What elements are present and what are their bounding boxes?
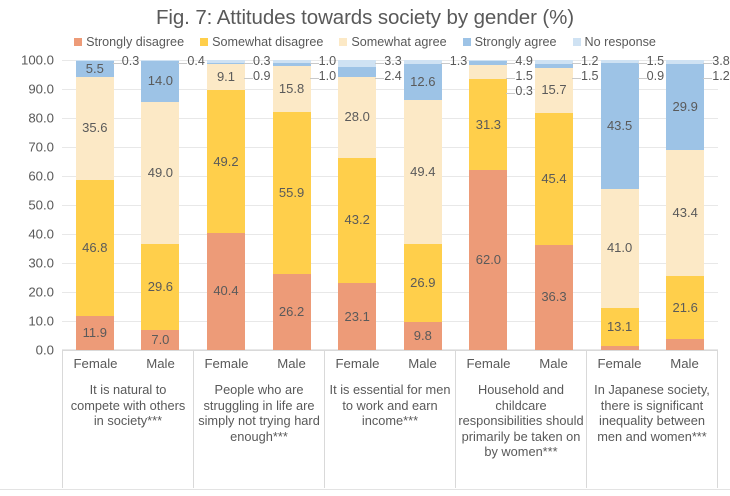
bar-segment[interactable] (273, 63, 311, 66)
bar-segment[interactable] (535, 60, 573, 64)
bar-value-label: 29.6 (141, 280, 179, 293)
bar-value-label: 5.5 (76, 62, 114, 75)
y-axis-tick-label: 50.0 (28, 198, 54, 213)
bar-segment[interactable] (207, 60, 245, 63)
bar-value-label: 43.4 (666, 206, 704, 219)
bar-value-callout: 1.5 (647, 55, 665, 68)
legend-label: Strongly agree (475, 35, 557, 49)
bar-value-label: 26.2 (273, 305, 311, 318)
legend-label: Strongly disagree (86, 35, 184, 49)
bar-value-label: 9.1 (207, 70, 245, 83)
bar-value-callout: 3.8 (712, 55, 730, 68)
y-axis-tick-label: 90.0 (28, 82, 54, 97)
bar-value-label: 35.6 (76, 121, 114, 134)
bar-value-label: 55.9 (273, 186, 311, 199)
gender-label-row: FemaleMale (63, 356, 193, 371)
bar-value-callout: 0.9 (253, 70, 271, 83)
category-label: It is essential for men to work and earn… (325, 382, 455, 429)
bar-value-label: 14.0 (141, 74, 179, 87)
bar-segment[interactable] (666, 60, 704, 63)
legend-item[interactable]: Somewhat disagree (200, 35, 323, 49)
category-cell: FemaleMalePeople who are struggling in l… (194, 351, 325, 488)
legend-swatch-icon (463, 38, 471, 46)
legend-label: Somewhat disagree (212, 35, 323, 49)
gender-label: Male (259, 356, 324, 371)
y-axis-tick-label: 80.0 (28, 111, 54, 126)
bar-value-callout: 1.2 (712, 70, 730, 83)
stacked-bar[interactable]: 40.449.29.10.30.9 (207, 60, 245, 350)
y-axis: 0.010.020.030.040.050.060.070.080.090.01… (0, 60, 58, 350)
bar-value-label: 49.4 (404, 165, 442, 178)
bar-value-label: 26.9 (404, 276, 442, 289)
chart-container: Fig. 7: Attitudes towards society by gen… (0, 0, 730, 496)
legend-item[interactable]: Strongly disagree (74, 35, 184, 49)
bar-value-label: 13.1 (601, 320, 639, 333)
bar-segment[interactable] (141, 60, 179, 61)
bar-value-label: 12.6 (404, 75, 442, 88)
bar-value-label: 62.0 (469, 253, 507, 266)
bar-segment[interactable] (469, 60, 507, 61)
y-axis-tick-label: 20.0 (28, 285, 54, 300)
category-cell: FemaleMaleHousehold and childcare respon… (456, 351, 587, 488)
bar-value-label: 9.8 (404, 329, 442, 342)
callout-leader-line (441, 63, 450, 64)
bar-segment[interactable] (273, 60, 311, 63)
bar-segment[interactable] (469, 65, 507, 79)
y-axis-tick-label: 70.0 (28, 140, 54, 155)
bar-value-label: 7.0 (141, 333, 179, 346)
bar-segment[interactable] (535, 64, 573, 67)
category-cell: FemaleMaleIt is natural to compete with … (63, 351, 194, 488)
stacked-bar[interactable]: 9.826.949.412.61.3 (404, 60, 442, 350)
gender-label: Female (587, 356, 652, 371)
gender-label: Male (128, 356, 193, 371)
stacked-bar[interactable]: 23.143.228.03.32.4 (338, 60, 376, 350)
y-axis-tick-label: 10.0 (28, 314, 54, 329)
bar-value-callout: 4.9 (515, 55, 533, 68)
category-label: Household and childcare responsibilities… (456, 382, 586, 460)
callout-leader-line (310, 63, 319, 64)
bar-group: 40.449.29.10.30.926.255.915.81.01.0 (193, 60, 324, 350)
callout-leader-line (638, 78, 647, 79)
bar-value-label: 43.5 (601, 119, 639, 132)
gender-label: Male (390, 356, 455, 371)
bar-group: 13.141.043.51.50.921.643.429.93.81.2 (587, 60, 718, 350)
category-label: It is natural to compete with others in … (63, 382, 193, 429)
gender-label: Female (194, 356, 259, 371)
legend-item[interactable]: Strongly agree (463, 35, 557, 49)
stacked-bar[interactable]: 62.031.34.91.50.3 (469, 60, 507, 350)
stacked-bar[interactable]: 36.345.415.71.21.5 (535, 60, 573, 350)
bar-value-callout: 1.5 (515, 70, 533, 83)
plot-area: 11.946.835.65.50.37.029.649.014.00.440.4… (62, 60, 718, 350)
callout-leader-line (703, 63, 712, 64)
bar-value-label: 15.8 (273, 82, 311, 95)
gender-label-row: FemaleMale (456, 356, 586, 371)
gender-label: Male (521, 356, 586, 371)
y-axis-tick-label: 60.0 (28, 169, 54, 184)
bar-value-label: 23.1 (338, 310, 376, 323)
callout-leader-line (506, 93, 515, 94)
bar-segment[interactable] (601, 60, 639, 63)
legend-swatch-icon (74, 38, 82, 46)
chart-title: Fig. 7: Attitudes towards society by gen… (0, 6, 730, 30)
bar-value-label: 29.9 (666, 100, 704, 113)
callout-leader-line (506, 78, 515, 79)
bar-value-label: 15.7 (535, 83, 573, 96)
bar-segment[interactable] (666, 339, 704, 350)
callout-leader-line (506, 63, 515, 64)
bar-group: 11.946.835.65.50.37.029.649.014.00.4 (62, 60, 193, 350)
bar-value-label: 49.2 (207, 155, 245, 168)
callout-leader-line (375, 63, 384, 64)
bar-value-label: 21.6 (666, 301, 704, 314)
callout-leader-line (375, 78, 384, 79)
category-axis: FemaleMaleIt is natural to compete with … (62, 350, 718, 488)
bar-segment[interactable] (338, 60, 376, 67)
gender-label: Male (652, 356, 717, 371)
bar-segment[interactable] (207, 63, 245, 64)
bar-segment[interactable] (338, 67, 376, 77)
bar-value-label: 45.4 (535, 172, 573, 185)
bar-segment[interactable] (469, 61, 507, 65)
callout-leader-line (572, 78, 581, 79)
legend-swatch-icon (339, 38, 347, 46)
bar-segment[interactable] (76, 60, 114, 61)
gender-label-row: FemaleMale (325, 356, 455, 371)
bar-value-label: 31.3 (469, 118, 507, 131)
callout-leader-line (703, 78, 712, 79)
bar-segment[interactable] (404, 60, 442, 64)
bar-value-callout: 0.3 (122, 55, 140, 68)
y-axis-tick-label: 100.0 (21, 53, 54, 68)
category-cell: FemaleMaleIn Japanese society, there is … (587, 351, 717, 488)
category-label: People who are struggling in life are si… (194, 382, 324, 444)
legend-item[interactable]: No response (573, 35, 656, 49)
category-cell: FemaleMaleIt is essential for men to wor… (325, 351, 456, 488)
stacked-bar[interactable]: 7.029.649.014.00.4 (141, 60, 179, 350)
gender-label: Female (63, 356, 128, 371)
legend-label: Somewhat agree (351, 35, 446, 49)
gender-label: Female (456, 356, 521, 371)
callout-leader-line (244, 63, 253, 64)
y-axis-tick-label: 40.0 (28, 227, 54, 242)
bar-value-label: 40.4 (207, 284, 245, 297)
stacked-bar[interactable]: 13.141.043.51.50.9 (601, 60, 639, 350)
chart-legend: Strongly disagreeSomewhat disagreeSomewh… (0, 35, 730, 49)
legend-swatch-icon (200, 38, 208, 46)
gender-label-row: FemaleMale (587, 356, 717, 371)
callout-leader-line (113, 63, 122, 64)
callout-leader-line (638, 63, 647, 64)
stacked-bar[interactable]: 11.946.835.65.50.3 (76, 60, 114, 350)
gender-label-row: FemaleMale (194, 356, 324, 371)
callout-leader-line (178, 63, 187, 64)
callout-leader-line (244, 78, 253, 79)
bar-value-label: 46.8 (76, 241, 114, 254)
callout-leader-line (572, 63, 581, 64)
y-axis-tick-label: 30.0 (28, 256, 54, 271)
bar-value-callout: 0.3 (253, 55, 271, 68)
bar-value-label: 41.0 (601, 241, 639, 254)
bottom-divider (0, 489, 730, 490)
callout-leader-line (310, 78, 319, 79)
bar-value-label: 43.2 (338, 213, 376, 226)
legend-item[interactable]: Somewhat agree (339, 35, 446, 49)
legend-label: No response (585, 35, 656, 49)
category-label: In Japanese society, there is significan… (587, 382, 717, 444)
stacked-bar[interactable]: 21.643.429.93.81.2 (666, 60, 704, 350)
bar-value-label: 36.3 (535, 290, 573, 303)
gender-label: Female (325, 356, 390, 371)
bars-layer: 11.946.835.65.50.37.029.649.014.00.440.4… (62, 60, 718, 350)
bar-value-callout: 3.3 (384, 55, 402, 68)
bar-value-callout: 0.3 (515, 85, 533, 98)
bar-value-label: 11.9 (76, 326, 114, 339)
bar-group: 62.031.34.91.50.336.345.415.71.21.5 (456, 60, 587, 350)
legend-swatch-icon (573, 38, 581, 46)
bar-value-label: 28.0 (338, 110, 376, 123)
bar-value-label: 49.0 (141, 166, 179, 179)
stacked-bar[interactable]: 26.255.915.81.01.0 (273, 60, 311, 350)
y-axis-tick-label: 0.0 (36, 343, 54, 358)
bar-group: 23.143.228.03.32.49.826.949.412.61.3 (324, 60, 455, 350)
bar-value-callout: 0.9 (647, 70, 665, 83)
bar-value-callout: 2.4 (384, 70, 402, 83)
